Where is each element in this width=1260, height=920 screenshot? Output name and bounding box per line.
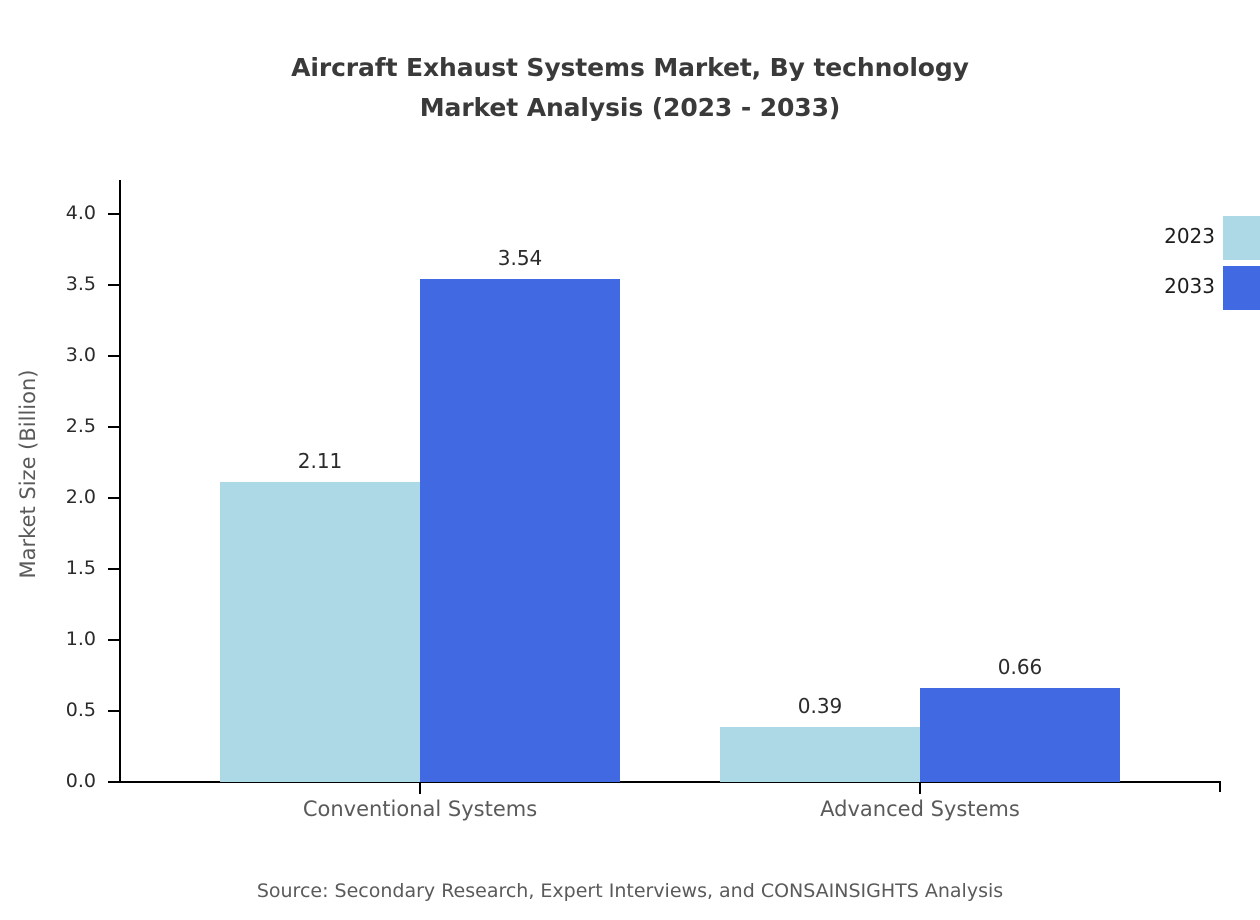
- y-axis-tick-label: 3.0: [26, 346, 96, 365]
- legend-label: 2023: [1120, 224, 1215, 248]
- y-axis-tick-label: 3.5: [26, 275, 96, 294]
- y-axis-spine: [119, 180, 121, 783]
- y-axis-tick-label: 0.5: [26, 701, 96, 720]
- bar-2023-conventional-systems[interactable]: [220, 482, 420, 782]
- x-axis-tick-mark: [919, 783, 921, 794]
- y-axis-tick-mark: [108, 639, 120, 641]
- y-axis-tick-mark: [108, 213, 120, 215]
- legend[interactable]: 20232033: [1120, 216, 1260, 310]
- y-axis-title: Market Size (Billion): [16, 174, 40, 774]
- y-axis-tick-label: 4.0: [26, 204, 96, 223]
- chart-source-note: Source: Secondary Research, Expert Inter…: [0, 878, 1260, 904]
- bar-value-label: 0.39: [720, 696, 920, 716]
- bar-value-label: 0.66: [920, 657, 1120, 677]
- y-axis-tick-label: 2.0: [26, 488, 96, 507]
- y-axis-tick-mark: [108, 710, 120, 712]
- bar-chart: Aircraft Exhaust Systems Market, By tech…: [0, 0, 1260, 920]
- legend-color-swatch: [1223, 216, 1260, 260]
- legend-item-2023[interactable]: 2023: [1120, 216, 1260, 260]
- y-axis-tick-mark: [108, 355, 120, 357]
- chart-title-line-1: Aircraft Exhaust Systems Market, By tech…: [291, 53, 969, 82]
- x-axis-category-label: Conventional Systems: [210, 795, 630, 823]
- chart-title: Aircraft Exhaust Systems Market, By tech…: [0, 48, 1260, 128]
- y-axis-tick-label: 1.0: [26, 630, 96, 649]
- legend-label: 2033: [1120, 274, 1215, 298]
- x-axis-end-cap: [1219, 781, 1221, 792]
- legend-item-2033[interactable]: 2033: [1120, 266, 1260, 310]
- legend-color-swatch: [1223, 266, 1260, 310]
- y-axis-tick-mark: [108, 426, 120, 428]
- y-axis-tick-label: 0.0: [26, 772, 96, 791]
- y-axis-tick-mark: [108, 568, 120, 570]
- y-axis-tick-label: 2.5: [26, 417, 96, 436]
- bar-2023-advanced-systems[interactable]: [720, 727, 920, 782]
- x-axis-tick-mark: [419, 783, 421, 794]
- y-axis-tick-mark: [108, 284, 120, 286]
- bar-value-label: 2.11: [220, 451, 420, 471]
- y-axis-tick-label: 1.5: [26, 559, 96, 578]
- y-axis-tick-mark: [108, 781, 120, 783]
- chart-title-line-2: Market Analysis (2023 - 2033): [0, 88, 1260, 128]
- bar-2033-conventional-systems[interactable]: [420, 279, 620, 782]
- y-axis-tick-mark: [108, 497, 120, 499]
- x-axis-category-label: Advanced Systems: [710, 795, 1130, 823]
- bar-value-label: 3.54: [420, 248, 620, 268]
- bar-2033-advanced-systems[interactable]: [920, 688, 1120, 782]
